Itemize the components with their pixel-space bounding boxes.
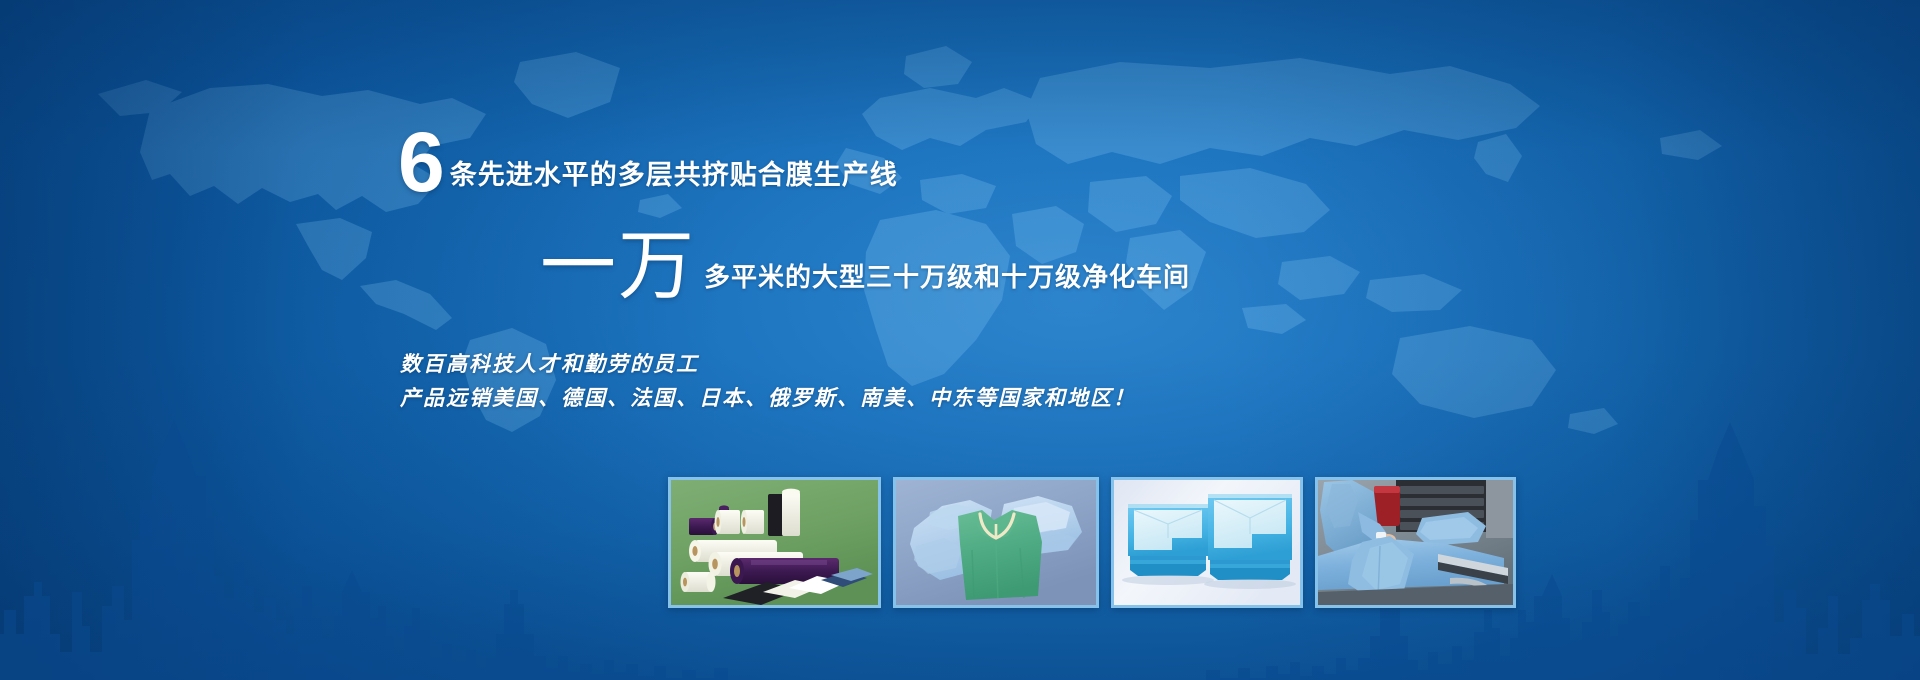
sub-line-2: 产品远销美国、德国、法国、日本、俄罗斯、南美、中东等国家和地区！ [400, 382, 1136, 416]
film-rolls-photo [671, 480, 878, 605]
headline-2-number: 一万 [540, 232, 696, 302]
hospital-bed-photo [1318, 480, 1513, 605]
sub-headline-group: 数百高科技人才和勤劳的员工 产品远销美国、德国、法国、日本、俄罗斯、南美、中东等… [400, 348, 1136, 416]
banner-content: 6 条先进水平的多层共挤贴合膜生产线 一万 多平米的大型三十万级和十万级净化车间… [0, 0, 1920, 680]
surgical-drape-stack-photo [1114, 480, 1300, 605]
surgical-gown-photo [896, 480, 1096, 605]
promotional-banner: 6 条先进水平的多层共挤贴合膜生产线 一万 多平米的大型三十万级和十万级净化车间… [0, 0, 1920, 680]
thumb-film-rolls[interactable] [668, 477, 881, 608]
thumb-surgical-drapes[interactable] [1111, 477, 1303, 608]
headline-1-text: 条先进水平的多层共挤贴合膜生产线 [444, 153, 898, 198]
sub-line-1: 数百高科技人才和勤劳的员工 [400, 348, 1136, 382]
thumb-hospital-bed[interactable] [1315, 477, 1516, 608]
product-gallery [668, 477, 1516, 608]
headline-1-number: 6 [398, 126, 444, 198]
headline-line-1: 6 条先进水平的多层共挤贴合膜生产线 [398, 126, 898, 198]
thumb-surgical-gowns[interactable] [893, 477, 1099, 608]
headline-2-text: 多平米的大型三十万级和十万级净化车间 [696, 257, 1190, 302]
headline-line-2: 一万 多平米的大型三十万级和十万级净化车间 [540, 232, 1190, 302]
